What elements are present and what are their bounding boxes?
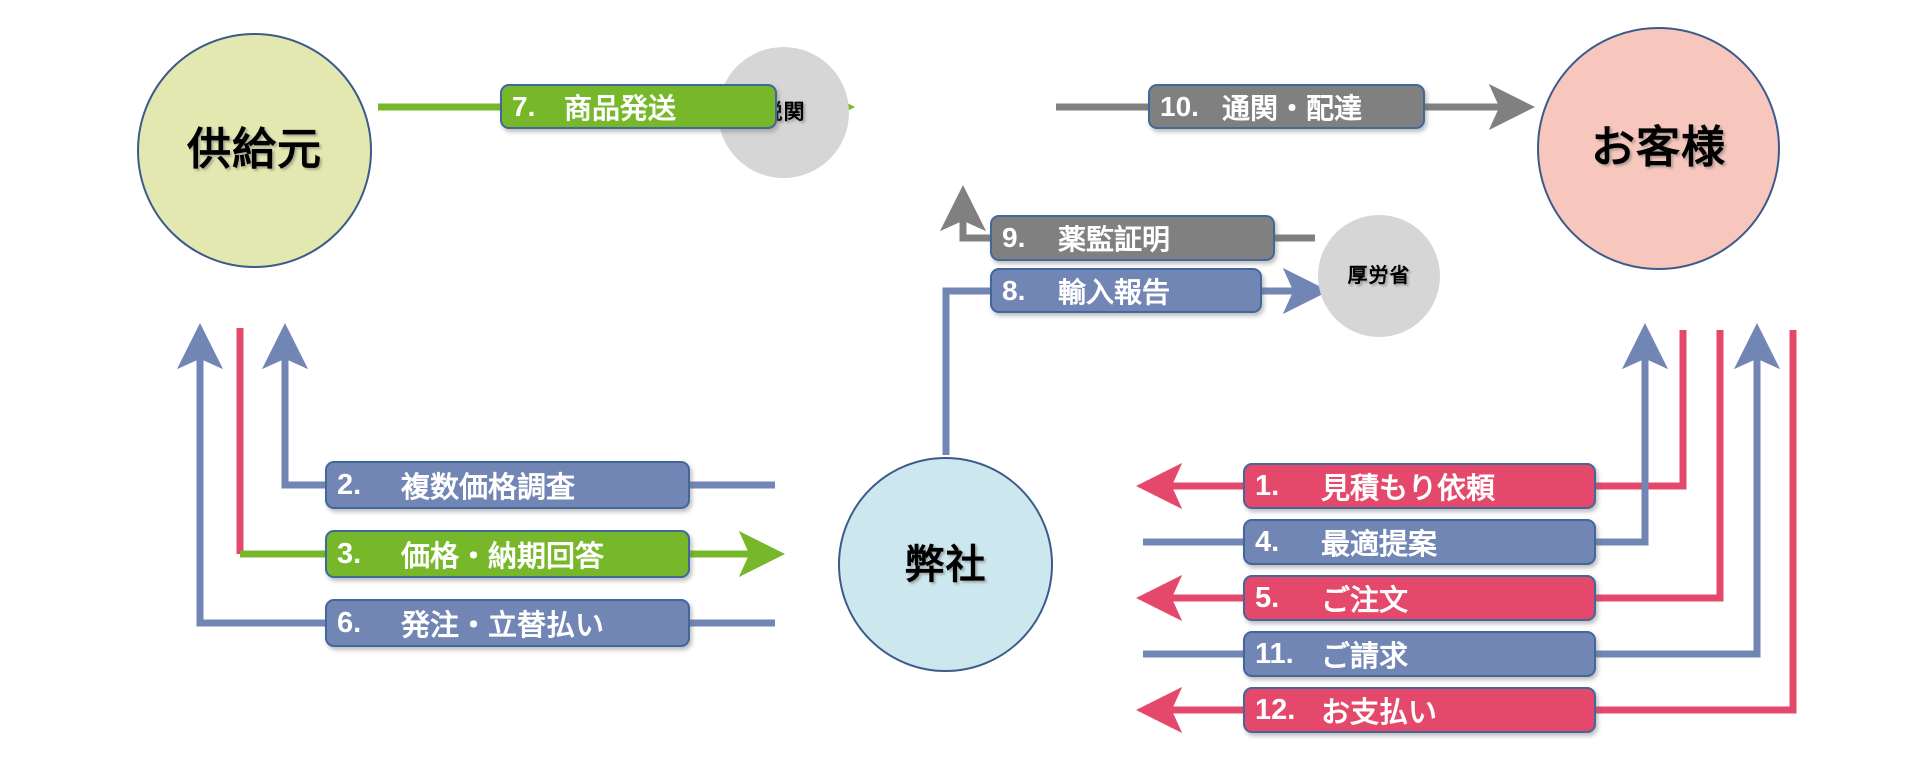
chip-step5-number: 5.	[1255, 582, 1321, 615]
node-ministry-label: 厚労省	[1348, 265, 1411, 287]
chip-step4[interactable]: 4. 最適提案	[1243, 519, 1596, 565]
chip-step6[interactable]: 6. 発注・立替払い	[325, 599, 690, 647]
diagram-canvas: 供給元 税関 お客様 厚労省 弊社 7. 商品発送 10. 通関・配達 9. 薬…	[0, 0, 1920, 775]
chip-step1[interactable]: 1. 見積もり依頼	[1243, 463, 1596, 509]
chip-step2-text: 複数価格調査	[401, 464, 575, 506]
chip-step4-text: 最適提案	[1321, 521, 1437, 563]
chip-step3-text: 価格・納期回答	[401, 533, 604, 575]
chip-step10-number: 10.	[1160, 91, 1222, 123]
node-company[interactable]: 弊社	[838, 457, 1053, 672]
chip-step8-number: 8.	[1002, 275, 1058, 307]
chip-step7[interactable]: 7. 商品発送	[500, 84, 777, 129]
chip-step10-text: 通関・配達	[1222, 87, 1362, 127]
node-customer-label: お客様	[1591, 124, 1726, 172]
chip-step11-number: 11.	[1255, 638, 1321, 671]
node-ministry[interactable]: 厚労省	[1318, 215, 1440, 337]
chip-step5[interactable]: 5. ご注文	[1243, 575, 1596, 621]
chip-step9-text: 薬監証明	[1058, 218, 1170, 258]
chip-step1-number: 1.	[1255, 470, 1321, 503]
chip-step12[interactable]: 12. お支払い	[1243, 687, 1596, 733]
node-supplier-label: 供給元	[187, 126, 322, 174]
chip-step11-text: ご請求	[1321, 633, 1408, 675]
connector-step3-from-supplier	[240, 328, 778, 554]
node-customer[interactable]: お客様	[1537, 27, 1780, 270]
chip-step11[interactable]: 11. ご請求	[1243, 631, 1596, 677]
connector-step4-to-customer	[1143, 330, 1645, 542]
chip-step12-number: 12.	[1255, 694, 1321, 727]
chip-step6-text: 発注・立替払い	[401, 602, 604, 644]
node-supplier[interactable]: 供給元	[137, 33, 372, 268]
node-company-label: 弊社	[905, 543, 987, 587]
chip-step6-number: 6.	[337, 607, 401, 640]
chip-step3-number: 3.	[337, 538, 401, 571]
chip-step9[interactable]: 9. 薬監証明	[990, 215, 1275, 261]
chip-step7-number: 7.	[512, 91, 564, 123]
chip-step12-text: お支払い	[1321, 689, 1437, 731]
chip-step9-number: 9.	[1002, 222, 1058, 254]
chip-step1-text: 見積もり依頼	[1321, 465, 1495, 507]
chip-step4-number: 4.	[1255, 526, 1321, 559]
chip-step5-text: ご注文	[1321, 577, 1408, 619]
connector-company-to-ministry	[946, 291, 1322, 455]
chip-step3[interactable]: 3. 価格・納期回答	[325, 530, 690, 578]
chip-step2[interactable]: 2. 複数価格調査	[325, 461, 690, 509]
chip-step2-number: 2.	[337, 469, 401, 502]
chip-step8-text: 輸入報告	[1058, 271, 1170, 311]
chip-step7-text: 商品発送	[564, 87, 676, 127]
chip-step10[interactable]: 10. 通関・配達	[1148, 84, 1425, 129]
chip-step8[interactable]: 8. 輸入報告	[990, 268, 1262, 313]
